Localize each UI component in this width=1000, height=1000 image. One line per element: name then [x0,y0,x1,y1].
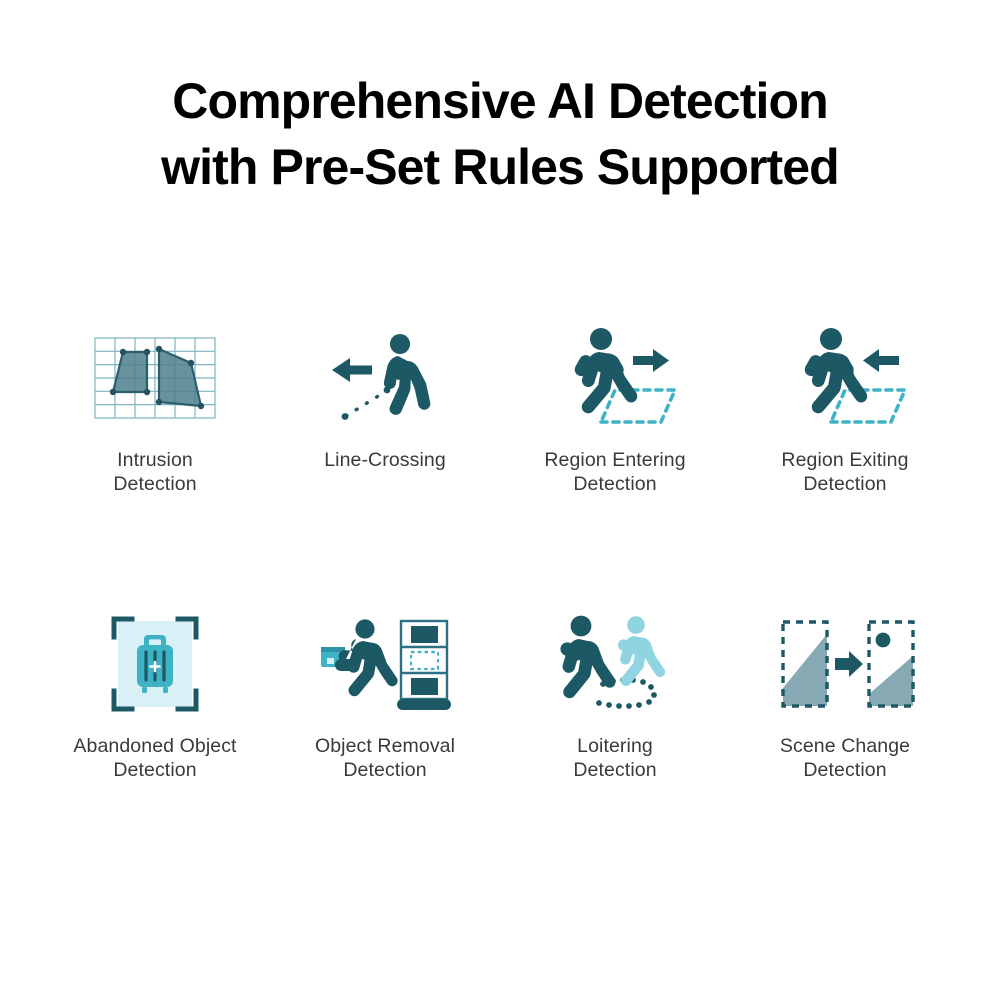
feature-label-line-2: Detection [573,758,656,782]
feature-label-line-1: Object Removal [315,734,455,758]
feature-label-line-2: Detection [73,758,236,782]
page-title-line-1: Comprehensive AI Detection [40,68,960,134]
page-title: Comprehensive AI Detection with Pre-Set … [40,68,960,200]
feature-label-line-1: Loitering [573,734,656,758]
grid-polygons-icon [70,322,240,434]
feature-label: Scene Change Detection [780,734,910,782]
feature-label: Line-Crossing [324,448,446,472]
feature-label-line-1: Scene Change [780,734,910,758]
feature-label-line-2: Detection [544,472,685,496]
feature-label-line-1: Region Exiting [781,448,908,472]
feature-label-line-2: Detection [315,758,455,782]
feature-label-line-2: Detection [780,758,910,782]
feature-label-line-2: Detection [113,472,196,496]
person-entering-region-icon [530,322,700,434]
feature-label: Object Removal Detection [315,734,455,782]
feature-label-line-2: Detection [781,472,908,496]
feature-label: Abandoned Object Detection [73,734,236,782]
feature-item-region-exiting-detection: Region Exiting Detection [730,322,960,532]
feature-label-line-1: Abandoned Object [73,734,236,758]
two-people-dotted-path-icon [530,608,700,720]
feature-label-line-1: Intrusion [113,448,196,472]
feature-item-object-removal-detection: Object Removal Detection [270,608,500,818]
person-crossing-line-icon [300,322,470,434]
feature-item-scene-change-detection: Scene Change Detection [730,608,960,818]
feature-label: Intrusion Detection [113,448,196,496]
feature-label-line-1: Region Entering [544,448,685,472]
feature-label: Region Exiting Detection [781,448,908,496]
page-title-line-2: with Pre-Set Rules Supported [40,134,960,200]
person-exiting-region-icon [760,322,930,434]
two-frames-arrow-icon [760,608,930,720]
feature-item-region-entering-detection: Region Entering Detection [500,322,730,532]
feature-item-line-crossing: Line-Crossing [270,322,500,532]
suitcase-in-brackets-icon [70,608,240,720]
feature-item-abandoned-object-detection: Abandoned Object Detection [40,608,270,818]
feature-grid: Intrusion Detection [40,322,960,818]
person-carrying-box-shelf-icon [300,608,470,720]
page-root: Comprehensive AI Detection with Pre-Set … [0,0,1000,1000]
feature-item-loitering-detection: Loitering Detection [500,608,730,818]
feature-label: Region Entering Detection [544,448,685,496]
feature-label-line-1: Line-Crossing [324,448,446,472]
feature-item-intrusion-detection: Intrusion Detection [40,322,270,532]
feature-label: Loitering Detection [573,734,656,782]
